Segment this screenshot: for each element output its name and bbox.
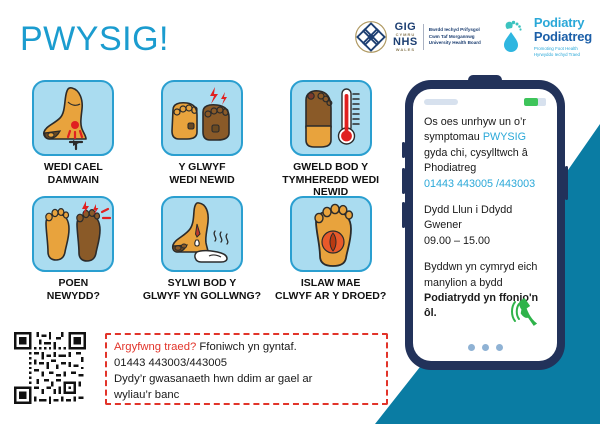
emergency-phone[interactable]: 01443 443003/443005: [114, 355, 379, 371]
symptom-card-label: POEN NEWYDD?: [47, 277, 100, 302]
nhs-celtic-knot-icon: [354, 20, 388, 54]
podiatry-title-en: Podiatry: [534, 16, 592, 29]
podiatry-logo: Podiatry Podiatreg Promoting Foot Health…: [499, 16, 592, 58]
emergency-line-1: Argyfwng traed? Ffoniwch yn gyntaf.: [114, 339, 379, 355]
emergency-line-4: wyliau’r banc: [114, 387, 379, 403]
nhs-wales-text: WALES: [396, 48, 415, 52]
ringing-phone-icon: [510, 296, 544, 328]
phone-intro-part2: gyda chi, cysylltwch â Phodiatreg: [424, 147, 528, 174]
nhs-wordmark: GIG CYMRU NHS WALES: [393, 22, 418, 52]
wound-changed-icon: [161, 80, 243, 156]
phone-opening-hours: Dydd Llun i Ddydd Gwener09.00 – 15.00: [424, 203, 546, 249]
nhs-wales-logo: GIG CYMRU NHS WALES Bwrdd Iechyd Prifysg…: [354, 20, 481, 54]
page-title: PWYSIG!: [20, 20, 169, 58]
battery-icon: [524, 98, 546, 106]
phone-status-bar: [413, 89, 557, 106]
wound-leaking-icon: [161, 196, 243, 272]
symptom-card: POEN NEWYDD?: [12, 196, 135, 312]
phone-intro-paragraph: Os oes unrhyw un o’r symptomau PWYSIG gy…: [424, 115, 546, 192]
symptom-card-label: SYLWI BOD Y GLWYF YN GOLLWNG?: [143, 277, 261, 302]
logo-group: GIG CYMRU NHS WALES Bwrdd Iechyd Prifysg…: [354, 16, 592, 58]
symptom-card: WEDI CAEL DAMWAIN: [12, 80, 135, 196]
symptom-card: GWELD BOD Y TYMHEREDD WEDI NEWID: [269, 80, 392, 196]
phone-hours-days: Dydd Llun i Ddydd Gwener: [424, 204, 512, 231]
symptom-card-label: ISLAW MAE CLWYF AR Y DROED?: [275, 277, 386, 302]
phone-intro-highlight: PWYSIG: [483, 131, 526, 143]
symptom-card: Y GLWYF WEDI NEWID: [141, 80, 264, 196]
health-board-name: Bwrdd Iechyd Prifysgol Cwm Taf Morgannwg…: [429, 27, 481, 46]
phone-message-body: Os oes unrhyw un o’r symptomau PWYSIG gy…: [413, 106, 557, 322]
phone-screen: Os oes unrhyw un o’r symptomau PWYSIG gy…: [413, 89, 557, 361]
symptom-card: ISLAW MAE CLWYF AR Y DROED?: [269, 196, 392, 312]
phone-button-silent[interactable]: [402, 142, 405, 158]
footprint-droplet-icon: [499, 19, 529, 55]
logo-divider: [423, 24, 424, 50]
phone-button-volume-up[interactable]: [402, 168, 405, 194]
phone-mockup: Os oes unrhyw un o’r symptomau PWYSIG gy…: [405, 80, 565, 370]
podiatry-wordmark: Podiatry Podiatreg Promoting Foot Health…: [534, 16, 592, 58]
emergency-heading: Argyfwng traed?: [114, 341, 196, 353]
podiatry-title-cy: Podiatreg: [534, 30, 592, 43]
phone-home-indicator: [413, 344, 557, 351]
emergency-heading-rest: Ffoniwch yn gyntaf.: [196, 341, 296, 353]
sole-ulcer-icon: [290, 196, 372, 272]
phone-button-power[interactable]: [565, 166, 568, 200]
foot-thermometer-icon: [290, 80, 372, 156]
emergency-notice: Argyfwng traed? Ffoniwch yn gyntaf. 0144…: [105, 333, 388, 405]
dot: [496, 344, 503, 351]
status-placeholder: [424, 99, 458, 105]
dot: [482, 344, 489, 351]
phone-button-volume-down[interactable]: [402, 202, 405, 228]
phone-hours-time: 09.00 – 15.00: [424, 235, 490, 247]
phone-earpiece: [468, 75, 502, 85]
podiatry-tagline: Promoting Foot Health Hyrwyddo Iechyd Tr…: [534, 46, 592, 58]
new-pain-icon: [32, 196, 114, 272]
phone-callback-paragraph: Byddwn yn cymryd eich manylion a bydd Po…: [424, 260, 546, 322]
symptom-card-label: GWELD BOD Y TYMHEREDD WEDI NEWID: [269, 161, 392, 199]
phone-callback-part1: Byddwn yn cymryd eich manylion a bydd: [424, 261, 537, 288]
symptom-card-label: Y GLWYF WEDI NEWID: [169, 161, 234, 186]
phone-telephone-number[interactable]: 01443 443005 /443003: [424, 178, 535, 190]
dot: [468, 344, 475, 351]
symptom-card-label: WEDI CAEL DAMWAIN: [44, 161, 103, 186]
symptom-card-grid: WEDI CAEL DAMWAIN Y GLWYF WEDI NEWID: [12, 80, 392, 312]
symptom-card: SYLWI BOD Y GLWYF YN GOLLWNG?: [141, 196, 264, 312]
emergency-line-3: Dydy’r gwasanaeth hwn ddim ar gael ar: [114, 371, 379, 387]
foot-injury-icon: [32, 80, 114, 156]
poster-root: PWYSIG! GIG CYMRU NHS WALES Bw: [0, 0, 600, 424]
qr-code[interactable]: [14, 332, 86, 404]
